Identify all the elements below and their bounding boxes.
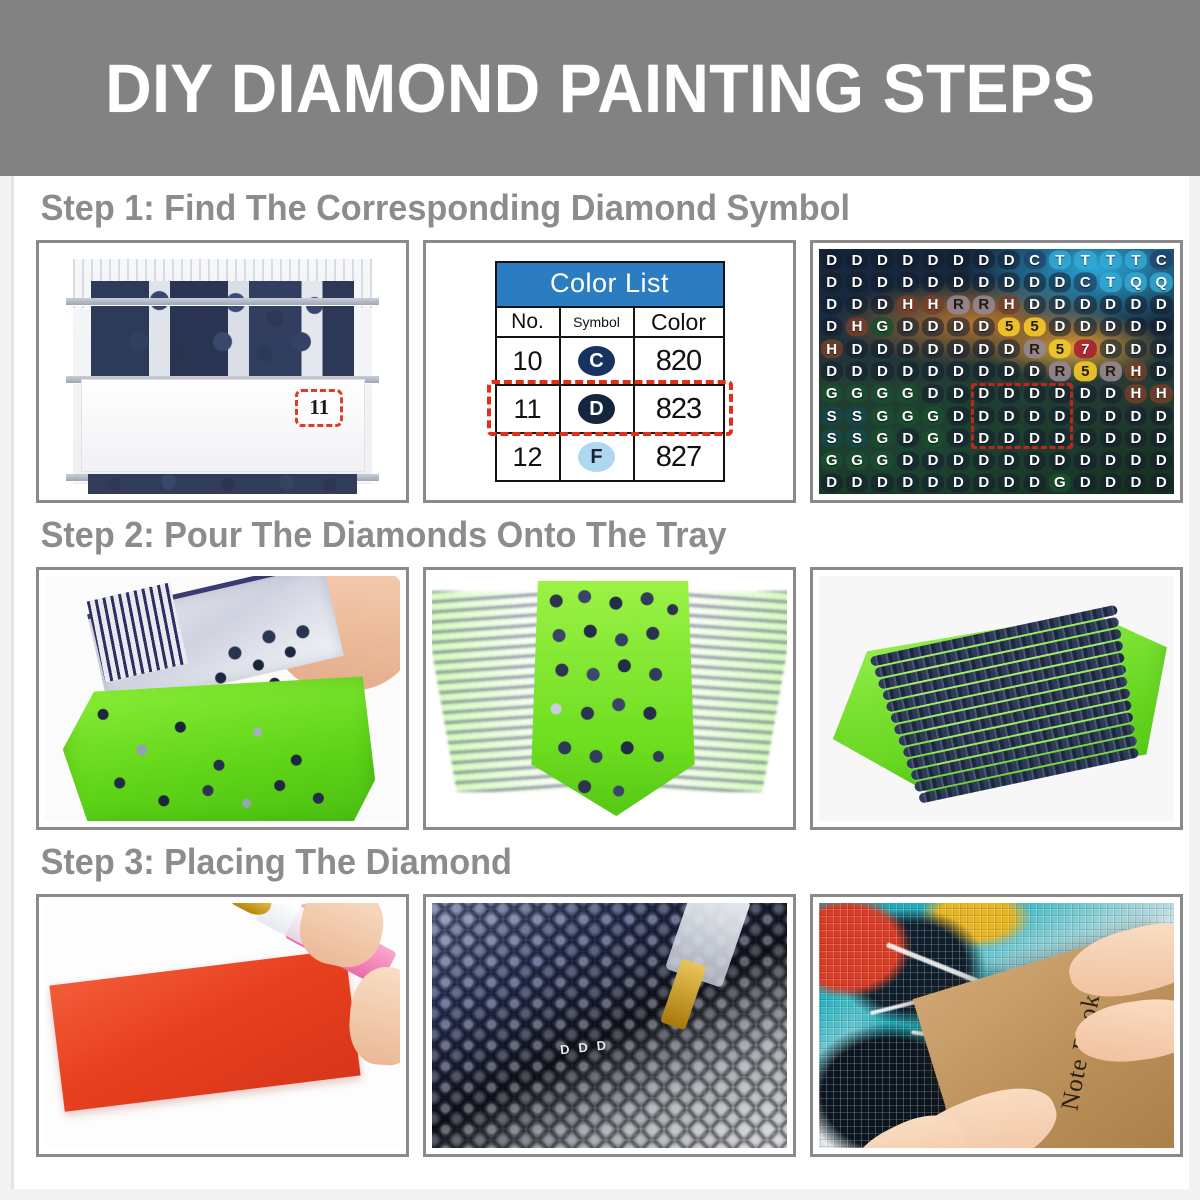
grid-cell-symbol: D: [902, 252, 913, 269]
grid-cell-symbol: G: [851, 452, 863, 469]
grid-cell-symbol: D: [953, 363, 964, 380]
grid-cell-symbol: D: [826, 252, 837, 269]
grid-cell-symbol: D: [953, 385, 964, 402]
grid-cell-symbol: H: [852, 318, 863, 335]
panel-color-list: Color List No. Symbol Color 10: [423, 240, 796, 503]
row-color-code: 820: [634, 337, 724, 385]
grid-cell: D: [971, 427, 996, 449]
grid-cell-symbol: D: [1004, 363, 1015, 380]
grid-cell-symbol: H: [826, 341, 837, 358]
panel-finished-painting: Note Book: [810, 894, 1183, 1157]
grid-cell: D: [1047, 405, 1072, 427]
grid-cell-symbol: Q: [1155, 274, 1167, 291]
aligned-beads-photo: [819, 576, 1174, 821]
grid-cell-symbol: D: [877, 274, 888, 291]
grid-cell: D: [971, 249, 996, 271]
grid-cell: D: [1123, 316, 1148, 338]
grid-cell: D: [1047, 383, 1072, 405]
grid-cell: D: [870, 294, 895, 316]
canvas-symbol-letter: D: [596, 1038, 607, 1054]
grid-cell: R: [971, 294, 996, 316]
grid-cell: G: [895, 383, 920, 405]
grid-cell-symbol: D: [1004, 385, 1015, 402]
step-3-panel-row: DDD: [14, 894, 1189, 1157]
row-color-code: 823: [634, 385, 724, 433]
color-list-title: Color List: [496, 262, 724, 307]
grid-cell-symbol: D: [1131, 318, 1142, 335]
grid-cell-symbol: D: [1029, 474, 1040, 491]
grid-cell-symbol: D: [1105, 430, 1116, 447]
grid-cell: D: [1149, 405, 1174, 427]
grid-cell-symbol: D: [1054, 452, 1065, 469]
grid-cell: 5: [1022, 316, 1047, 338]
grid-cell-symbol: D: [1080, 452, 1091, 469]
grid-cell-symbol: G: [902, 385, 914, 402]
grid-cell: D: [1022, 427, 1047, 449]
grid-cell: D: [1149, 294, 1174, 316]
grid-cell-symbol: D: [1156, 408, 1167, 425]
grid-cell-symbol: D: [953, 341, 964, 358]
grid-cell: T: [1098, 249, 1123, 271]
grid-cell: D: [946, 383, 971, 405]
grid-cell-symbol: D: [1105, 296, 1116, 313]
grid-cell-symbol: H: [1131, 363, 1142, 380]
grid-cell-symbol: S: [827, 408, 837, 425]
grid-cell-symbol: H: [928, 296, 939, 313]
grid-cell-symbol: D: [978, 452, 989, 469]
grid-cell: D: [971, 449, 996, 471]
step-1-heading: Step 1: Find The Corresponding Diamond S…: [14, 176, 1130, 240]
grid-cell: G: [844, 383, 869, 405]
grid-cell-symbol: D: [1080, 430, 1091, 447]
grid-cell: D: [1047, 271, 1072, 293]
grid-cell-symbol: D: [1004, 430, 1015, 447]
grid-cell-symbol: D: [1105, 452, 1116, 469]
grid-cell-symbol: D: [1131, 296, 1142, 313]
color-list-row: 12 F 827: [496, 433, 724, 481]
grid-cell: D: [1098, 316, 1123, 338]
grid-cell: D: [1098, 427, 1123, 449]
step-1-panel-row: 11 Color List: [14, 240, 1189, 503]
page-title: DIY DIAMOND PAINTING STEPS: [105, 49, 1095, 128]
grid-cell: H: [1123, 360, 1148, 382]
grid-cell-symbol: D: [1156, 341, 1167, 358]
grid-cell-symbol: D: [877, 296, 888, 313]
grid-cell-symbol: D: [953, 430, 964, 447]
panel-pen-wax-pad: [36, 894, 409, 1157]
grid-cell-symbol: D: [1105, 341, 1116, 358]
grid-cell: G: [819, 449, 844, 471]
grid-cell-symbol: D: [1131, 452, 1142, 469]
grid-cell: D: [971, 338, 996, 360]
grid-cell-symbol: G: [1054, 474, 1066, 491]
grid-cell: 5: [1047, 338, 1072, 360]
grid-cell: R: [1047, 360, 1072, 382]
grid-cell: D: [997, 383, 1022, 405]
pouring-photo: [45, 576, 400, 821]
grid-cell-symbol: T: [1106, 252, 1115, 269]
grid-cell-symbol: D: [826, 363, 837, 380]
grid-cell: D: [997, 405, 1022, 427]
grid-cell: 7: [1073, 338, 1098, 360]
grid-cell: D: [1098, 405, 1123, 427]
steps-container: Step 1: Find The Corresponding Diamond S…: [0, 176, 1200, 1200]
grid-cell-symbol: D: [953, 274, 964, 291]
grid-cell-symbol: D: [826, 474, 837, 491]
step-3-heading: Step 3: Placing The Diamond: [14, 830, 1130, 894]
grid-cell: D: [1022, 449, 1047, 471]
column-header-symbol: Symbol: [560, 307, 634, 337]
grid-cell-symbol: D: [1156, 452, 1167, 469]
grid-cell: S: [844, 427, 869, 449]
grid-cell: D: [895, 249, 920, 271]
grid-cell-symbol: D: [978, 474, 989, 491]
grid-cell: R: [946, 294, 971, 316]
grid-cell-symbol: R: [1029, 341, 1040, 358]
grid-cell-symbol: H: [902, 296, 913, 313]
grid-cell-symbol: D: [877, 363, 888, 380]
grid-cell: D: [895, 338, 920, 360]
grid-cell-symbol: D: [902, 363, 913, 380]
grid-cell: D: [844, 472, 869, 494]
row-symbol-cell: F: [560, 433, 634, 481]
column-header-no: No.: [496, 307, 560, 337]
grid-cell: H: [895, 294, 920, 316]
grid-cell-symbol: D: [852, 296, 863, 313]
grid-cell-symbol: D: [902, 474, 913, 491]
grid-cell-symbol: D: [1004, 474, 1015, 491]
grid-cell-symbol: D: [877, 252, 888, 269]
grid-cell-symbol: D: [852, 474, 863, 491]
beads-in-tray: [542, 588, 684, 804]
grid-cell-symbol: R: [978, 296, 989, 313]
grid-cell-symbol: D: [902, 341, 913, 358]
grid-cell-symbol: D: [928, 363, 939, 380]
grid-cell-symbol: D: [978, 408, 989, 425]
grid-cell: D: [819, 294, 844, 316]
grid-cell-symbol: R: [1105, 363, 1116, 380]
grid-cell-symbol: D: [978, 430, 989, 447]
grid-cell-symbol: D: [1105, 408, 1116, 425]
grid-cell: D: [1123, 338, 1148, 360]
grid-cell: R: [1098, 360, 1123, 382]
grid-cell: C: [1149, 249, 1174, 271]
grid-cell-symbol: D: [953, 318, 964, 335]
symbol-badge-d: D: [578, 394, 615, 424]
grid-cell: G: [870, 449, 895, 471]
grid-cell: D: [946, 472, 971, 494]
grid-cell-symbol: S: [852, 408, 862, 425]
grid-cell-symbol: G: [877, 318, 889, 335]
grid-cell-symbol: G: [877, 452, 889, 469]
grid-cell: D: [946, 449, 971, 471]
grid-cell-symbol: 7: [1081, 341, 1089, 358]
bag-number-tag: 11: [295, 389, 343, 427]
grid-cell: S: [844, 405, 869, 427]
grid-cell-symbol: D: [826, 318, 837, 335]
grid-cell: D: [895, 449, 920, 471]
row-color-code: 827: [634, 433, 724, 481]
grid-cell: D: [895, 427, 920, 449]
grid-cell-symbol: D: [1029, 430, 1040, 447]
row-no: 12: [496, 433, 560, 481]
grid-cell-symbol: D: [1004, 274, 1015, 291]
grid-cell: Q: [1123, 271, 1148, 293]
grid-cell-symbol: D: [877, 341, 888, 358]
bag-seal-top: [66, 298, 378, 305]
grid-cell-symbol: D: [826, 274, 837, 291]
grid-cell: D: [920, 316, 945, 338]
grid-cell-symbol: G: [826, 452, 838, 469]
grid-cell-symbol: D: [1080, 408, 1091, 425]
grid-cell: D: [920, 271, 945, 293]
beads-in-tray: [81, 689, 358, 816]
color-list-photo: Color List No. Symbol Color 10: [432, 249, 787, 494]
grid-cell: D: [870, 472, 895, 494]
grid-cell: D: [1149, 338, 1174, 360]
grid-cell-symbol: 5: [1081, 363, 1089, 380]
grid-cell-symbol: D: [978, 385, 989, 402]
grid-cell-symbol: D: [852, 274, 863, 291]
grid-cell: D: [1098, 383, 1123, 405]
grid-cell-symbol: D: [1105, 318, 1116, 335]
grid-cell-symbol: D: [1004, 252, 1015, 269]
grid-cell: D: [946, 405, 971, 427]
grid-cell-symbol: D: [902, 430, 913, 447]
finished-painting-photo: Note Book: [819, 903, 1174, 1148]
grid-cell: D: [1098, 338, 1123, 360]
grid-cell-symbol: D: [1029, 408, 1040, 425]
grid-cell-symbol: T: [1055, 252, 1064, 269]
grid-cell-symbol: D: [826, 296, 837, 313]
grid-cell: D: [1123, 405, 1148, 427]
panel-shaking-tray: [423, 567, 796, 830]
grid-cell-symbol: D: [1156, 363, 1167, 380]
grid-cell-symbol: R: [1054, 363, 1065, 380]
grid-cell: S: [819, 405, 844, 427]
grid-cell: T: [1047, 249, 1072, 271]
grid-cell: D: [1073, 383, 1098, 405]
canvas-symbol-letter: D: [559, 1042, 570, 1058]
grid-cell-symbol: G: [927, 430, 939, 447]
grid-cell-symbol: D: [978, 274, 989, 291]
grid-cell-symbol: D: [1004, 452, 1015, 469]
grid-cell: D: [870, 360, 895, 382]
grid-cell-symbol: D: [1029, 363, 1040, 380]
grid-cell: D: [1022, 271, 1047, 293]
grid-cell: D: [870, 338, 895, 360]
grid-cell: G: [870, 383, 895, 405]
grid-cell: D: [1073, 316, 1098, 338]
grid-cell-symbol: D: [1080, 296, 1091, 313]
grid-cell: D: [1073, 472, 1098, 494]
grid-cell-symbol: D: [1080, 385, 1091, 402]
grid-cell-symbol: D: [928, 318, 939, 335]
grid-cell: D: [946, 338, 971, 360]
grid-cell-symbol: D: [1156, 430, 1167, 447]
grid-cell-symbol: D: [1029, 274, 1040, 291]
grid-cell-symbol: 5: [1005, 318, 1013, 335]
color-list-table: Color List No. Symbol Color 10: [495, 261, 725, 482]
grid-cell: H: [920, 294, 945, 316]
grid-cell-symbol: D: [1156, 474, 1167, 491]
grid-cell-symbol: D: [978, 341, 989, 358]
grid-cell-symbol: D: [902, 274, 913, 291]
grid-cell: D: [1149, 316, 1174, 338]
color-list-row: 11 D 823: [496, 385, 724, 433]
grid-cell-symbol: C: [1156, 252, 1167, 269]
row-no: 11: [496, 385, 560, 433]
infographic-page: DIY DIAMOND PAINTING STEPS Step 1: Find …: [0, 0, 1200, 1200]
grid-cell-symbol: D: [1131, 408, 1142, 425]
grid-cell: D: [844, 271, 869, 293]
grid-cell-symbol: T: [1106, 274, 1115, 291]
placing-closeup-photo: DDD: [432, 903, 787, 1148]
grid-cell-symbol: D: [1054, 296, 1065, 313]
grid-cell: D: [946, 316, 971, 338]
grid-cell-symbol: D: [928, 452, 939, 469]
panel-pouring-beads: [36, 567, 409, 830]
grid-cell: H: [844, 316, 869, 338]
grid-cell-symbol: D: [1054, 274, 1065, 291]
grid-cell: D: [1098, 294, 1123, 316]
step-1-block: Step 1: Find The Corresponding Diamond S…: [14, 176, 1189, 503]
column-header-color: Color: [634, 307, 724, 337]
grid-cell: D: [1022, 383, 1047, 405]
grid-cell-symbol: 5: [1030, 318, 1038, 335]
grid-cell-symbol: H: [1004, 296, 1015, 313]
grid-cell: D: [844, 338, 869, 360]
grid-cell-symbol: D: [1054, 318, 1065, 335]
grid-cell: D: [844, 249, 869, 271]
grid-cell: D: [1098, 449, 1123, 471]
grid-cell-symbol: D: [1105, 474, 1116, 491]
grid-cell-symbol: D: [852, 341, 863, 358]
grid-cell: S: [819, 427, 844, 449]
grid-cell: D: [819, 249, 844, 271]
grid-cell: D: [946, 427, 971, 449]
canvas-symbol-letter: D: [577, 1040, 588, 1056]
color-list-header-row: No. Symbol Color: [496, 307, 724, 337]
grid-cell-symbol: D: [1080, 474, 1091, 491]
bag-bottom-beads: [88, 474, 358, 494]
grid-cell-symbol: D: [953, 452, 964, 469]
grid-cell: D: [920, 449, 945, 471]
grid-cell: D: [895, 472, 920, 494]
grid-cell-symbol: D: [852, 363, 863, 380]
grid-cell-symbol: G: [927, 408, 939, 425]
grid-cell: H: [997, 294, 1022, 316]
grid-cell-symbol: D: [1054, 430, 1065, 447]
grid-cell: D: [1073, 405, 1098, 427]
grid-cell: G: [870, 405, 895, 427]
grid-cell: G: [895, 405, 920, 427]
grid-cell: D: [997, 271, 1022, 293]
grid-cell-symbol: 5: [1056, 341, 1064, 358]
grid-cell: D: [1073, 449, 1098, 471]
grid-cell-symbol: D: [978, 252, 989, 269]
grid-cell: D: [946, 360, 971, 382]
grid-cell-symbol: D: [1131, 430, 1142, 447]
grid-cell: D: [971, 316, 996, 338]
grid-cell-symbol: G: [877, 430, 889, 447]
grid-cell: D: [1123, 294, 1148, 316]
grid-cell: C: [1022, 249, 1047, 271]
symbol-badge-c: C: [578, 346, 615, 376]
grid-cell: D: [920, 383, 945, 405]
grid-cell-symbol: D: [1105, 385, 1116, 402]
grid-cell: D: [844, 360, 869, 382]
grid-cell: T: [1123, 249, 1148, 271]
grid-cell: G: [920, 427, 945, 449]
grid-cell: D: [1022, 360, 1047, 382]
grid-cell: D: [1149, 360, 1174, 382]
grid-cell: R: [1022, 338, 1047, 360]
grid-cell: D: [971, 360, 996, 382]
row-symbol-cell: D: [560, 385, 634, 433]
grid-cell: D: [1123, 427, 1148, 449]
canvas-grid-photo: DDDDDDDDCTTTTCDDDDDDDDDDCTQQDDDHHRRHDDDD…: [819, 249, 1174, 494]
grid-cell: D: [1149, 472, 1174, 494]
grid-cell-symbol: D: [1029, 452, 1040, 469]
grid-cell-symbol: S: [852, 430, 862, 447]
grid-cell: D: [1073, 427, 1098, 449]
grid-cell: D: [920, 472, 945, 494]
grid-cell: D: [1073, 294, 1098, 316]
row-symbol-cell: C: [560, 337, 634, 385]
grid-cell: D: [1022, 294, 1047, 316]
grid-cell-symbol: H: [1131, 385, 1142, 402]
step-2-block: Step 2: Pour The Diamonds Onto The Tray: [14, 503, 1189, 830]
grid-cell: D: [819, 472, 844, 494]
grid-cell: D: [971, 405, 996, 427]
grid-cell: D: [870, 271, 895, 293]
grid-cell: D: [997, 249, 1022, 271]
grid-cell: D: [895, 360, 920, 382]
grid-cell: D: [997, 338, 1022, 360]
grid-cell-symbol: T: [1131, 252, 1140, 269]
grid-cell-symbol: D: [928, 385, 939, 402]
grid-cell-symbol: G: [851, 385, 863, 402]
grid-cell-symbol: G: [826, 385, 838, 402]
grid-cell-symbol: D: [1054, 385, 1065, 402]
grid-cell: H: [1149, 383, 1174, 405]
grid-cell-symbol: H: [1156, 385, 1167, 402]
grid-cell: D: [920, 338, 945, 360]
grid-cell-symbol: S: [827, 430, 837, 447]
grid-cell-symbol: D: [1131, 474, 1142, 491]
grid-cell-symbol: D: [877, 474, 888, 491]
grid-cell: G: [819, 383, 844, 405]
grid-cell-symbol: C: [1080, 274, 1091, 291]
grid-cell-symbol: D: [852, 252, 863, 269]
grid-cell: D: [819, 271, 844, 293]
wax-pad-photo: [45, 903, 400, 1148]
grid-cell: G: [870, 316, 895, 338]
color-list-title-row: Color List: [496, 262, 724, 307]
grid-cell: D: [1098, 472, 1123, 494]
grid-cell: D: [1022, 405, 1047, 427]
grid-cell-symbol: D: [1029, 296, 1040, 313]
grid-cell: D: [971, 271, 996, 293]
grid-cell-symbol: D: [1004, 341, 1015, 358]
grid-cell-symbol: D: [1080, 318, 1091, 335]
grid-cell: G: [870, 427, 895, 449]
grid-cell-symbol: D: [1156, 318, 1167, 335]
grid-cell: D: [1149, 427, 1174, 449]
grid-cell: D: [1022, 472, 1047, 494]
step-3-block: Step 3: Placing The Diamond: [14, 830, 1189, 1157]
